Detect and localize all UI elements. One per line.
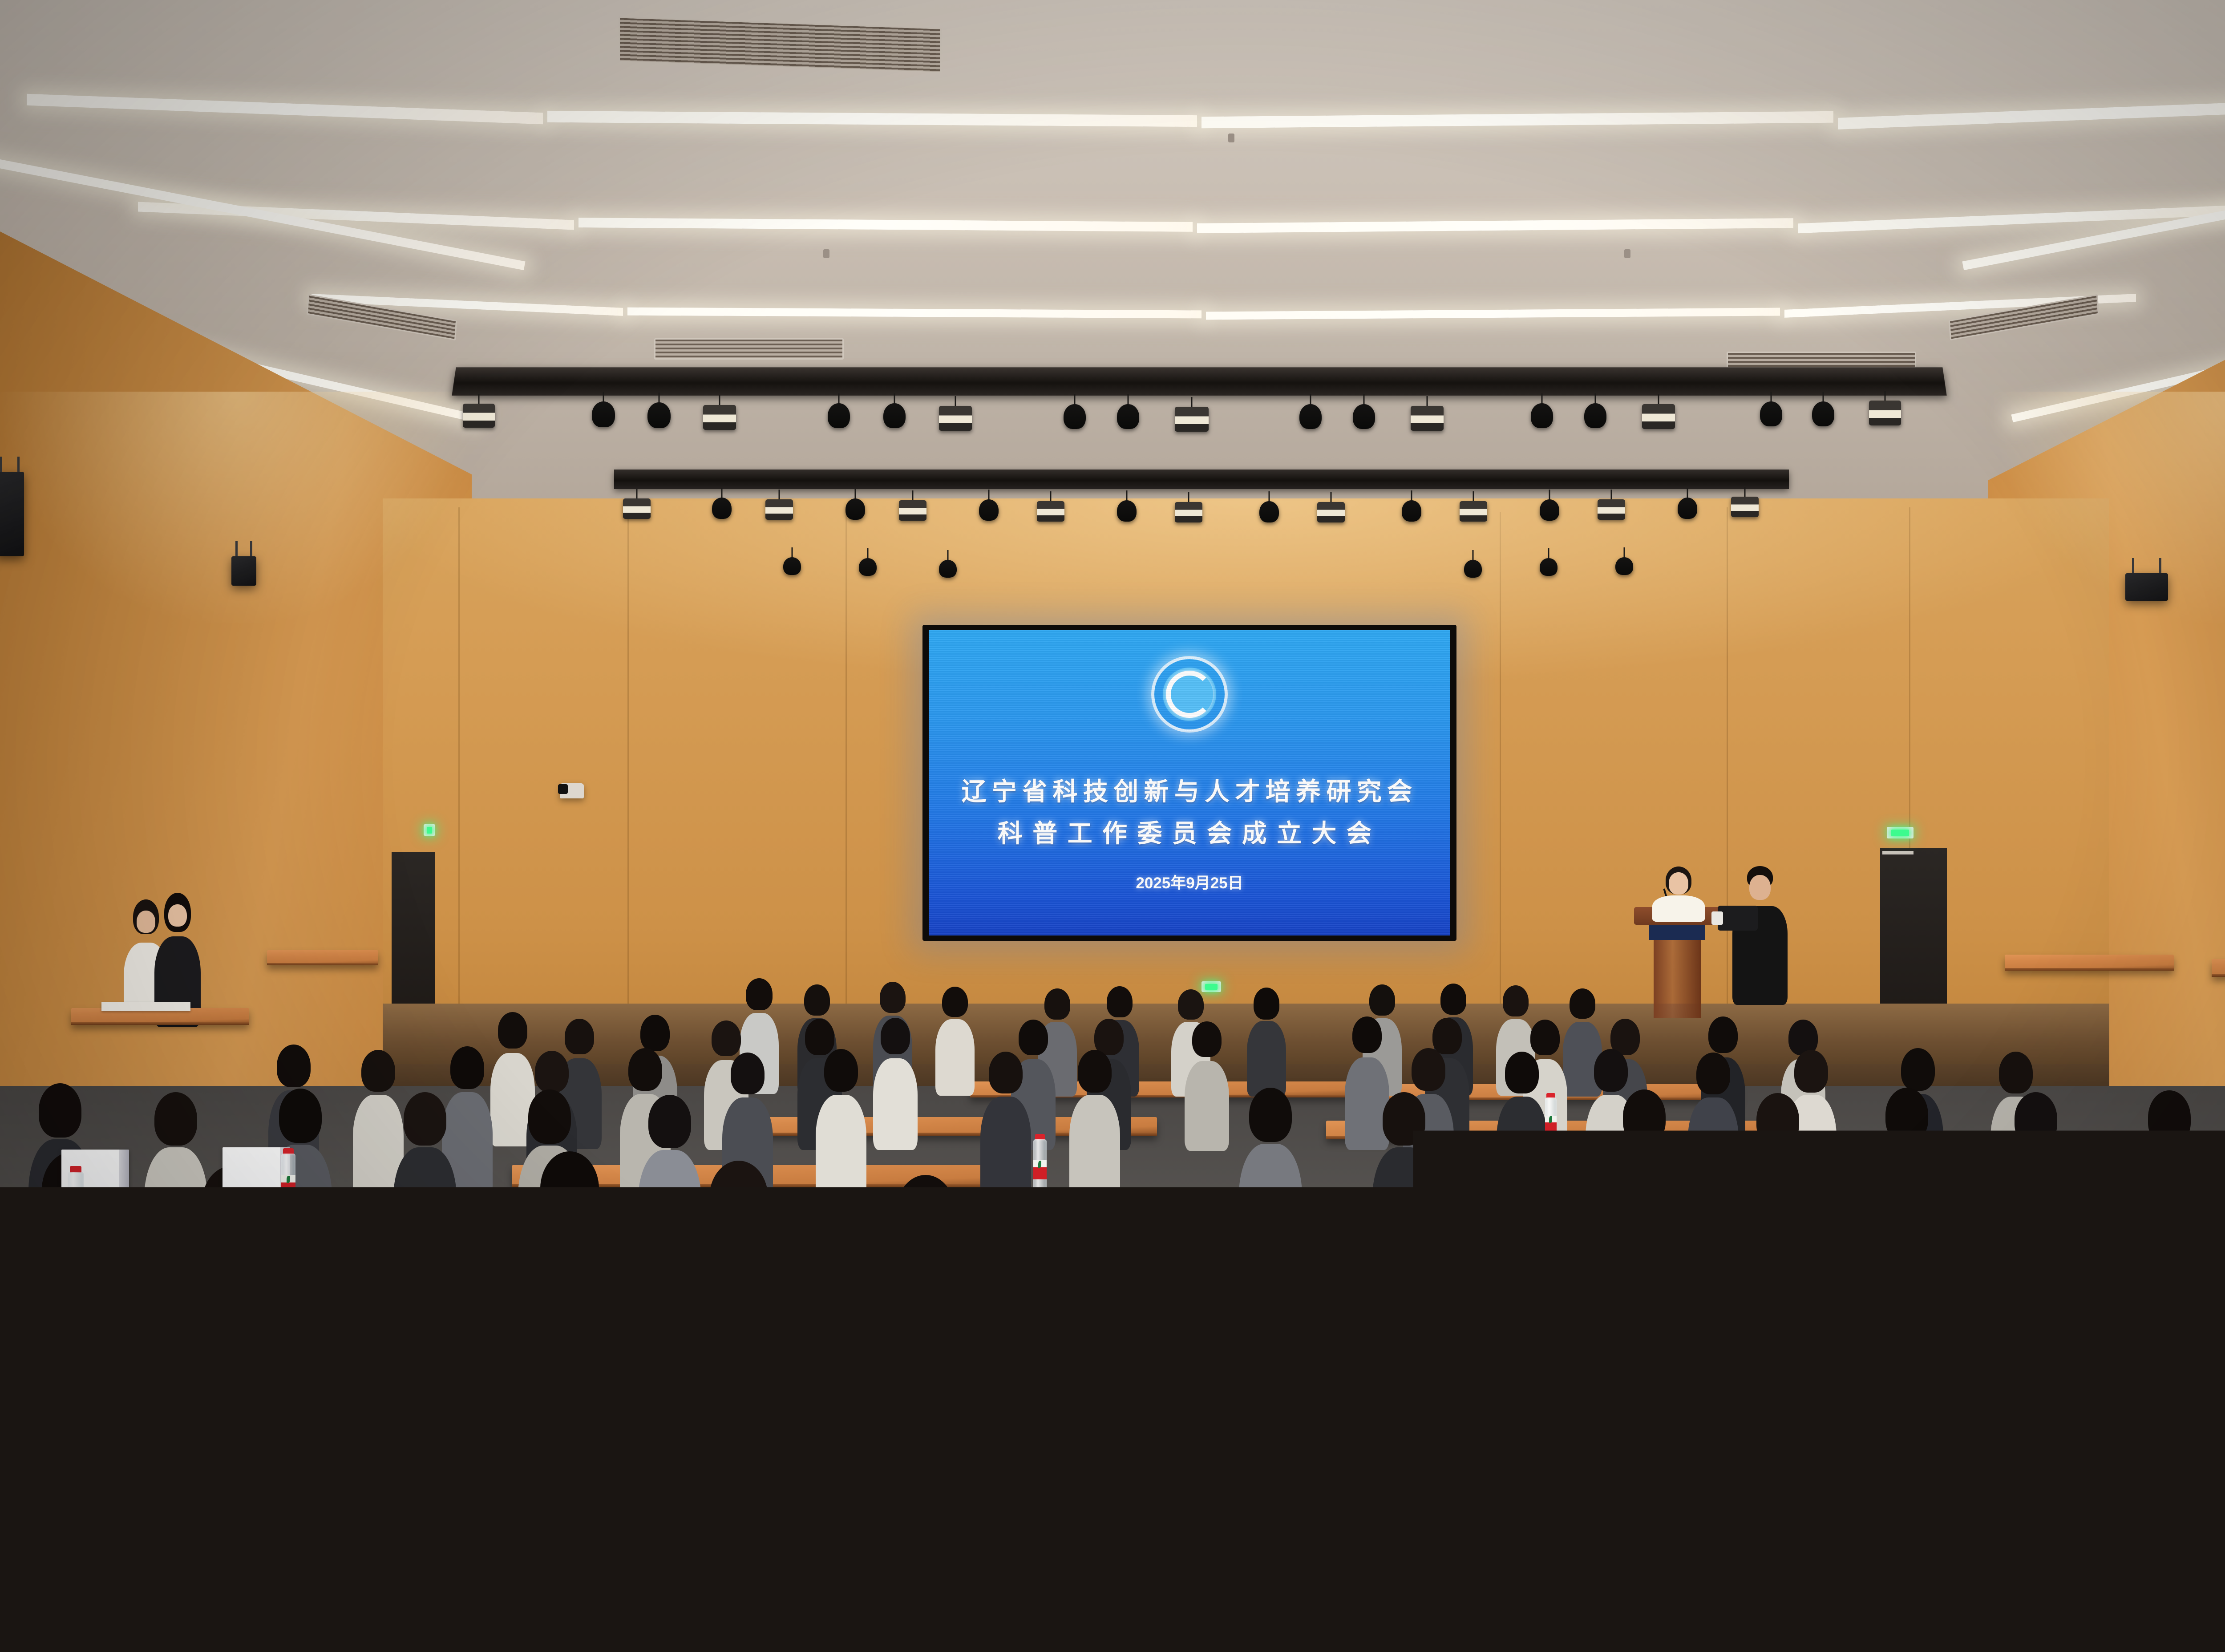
stage-spotlight: [1678, 488, 1697, 517]
camera-lens-hood: [1711, 911, 1723, 925]
placard-org-line: [237, 1194, 284, 1236]
placard-logo-icon: [1153, 1320, 1164, 1331]
placard-org-line: [1801, 1450, 1869, 1494]
stage-spotlight: [1259, 491, 1279, 521]
water-bottle: [247, 1388, 274, 1490]
water-bottle: [1255, 1353, 1280, 1454]
speaker-podium: [1634, 907, 1720, 1018]
placard-logo-icon: [1787, 1444, 1799, 1457]
stage-spotlight: [623, 489, 651, 518]
audience-member-foreground: [1642, 1197, 1798, 1504]
stage-spotlight: [1411, 396, 1444, 431]
stage-spotlight: [1460, 491, 1487, 521]
stage-spotlight: [1117, 394, 1139, 429]
audience-member: [872, 1023, 918, 1150]
name-placard: 左晓晶: [2076, 1397, 2174, 1652]
audience-member: [1873, 1095, 1940, 1272]
video-camera: [1718, 906, 1758, 931]
sprinkler-head: [1228, 134, 1234, 142]
wall-speaker: [231, 556, 256, 586]
water-bottle: [541, 1238, 562, 1325]
name-placard: 宋同凯: [1780, 1400, 1877, 1652]
placard-fold: [825, 1426, 838, 1652]
audience-member: [814, 1055, 868, 1199]
document: [1059, 1409, 1126, 1426]
stage-spotlight: [1760, 392, 1782, 426]
water-bottle: [943, 1380, 968, 1485]
led-display-screen: 辽宁省科技创新与人才培养研究会 科普工作委员会成立大会 2025年9月25日: [922, 625, 1456, 941]
stage-spotlight: [1464, 550, 1482, 575]
wall-speaker: [2125, 573, 2168, 601]
stage-spotlight: [1531, 393, 1553, 428]
water-bottle: [1969, 1233, 1989, 1316]
stage-spotlight: [845, 489, 865, 518]
audience-member: [525, 1161, 614, 1392]
placard-logo-icon: [233, 1460, 245, 1472]
side-table: [267, 950, 378, 965]
audience-member-foreground: [1201, 1282, 1397, 1652]
placard-fold: [1931, 1271, 1943, 1540]
stage-spotlight: [979, 490, 999, 519]
stage-spotlight: [1175, 397, 1209, 432]
desk-leg: [734, 1505, 741, 1585]
audience-member: [1068, 1056, 1121, 1199]
audience-member: [636, 1102, 703, 1275]
air-vent: [654, 338, 844, 360]
stage-spotlight: [1584, 393, 1606, 428]
stage-spotlight: [1317, 492, 1345, 522]
stage-spotlight: [1037, 491, 1064, 521]
placard-logo-icon: [227, 1189, 236, 1198]
water-bottle: [67, 1166, 85, 1241]
placard-org-line: [451, 1247, 498, 1289]
stage-spotlight: [1175, 492, 1202, 522]
stage-spotlight: [1540, 490, 1559, 519]
placard-logo-icon: [10, 1247, 20, 1256]
side-table: [2212, 959, 2225, 977]
water-bottle: [1235, 1241, 1256, 1325]
stage-spotlight: [1117, 490, 1137, 520]
stage-spotlight: [463, 394, 495, 428]
water-bottle: [2183, 1346, 2209, 1451]
stage-spotlight: [765, 490, 793, 519]
emergency-exit-sign: [1201, 981, 1221, 992]
wall-ambient-glow: [0, 392, 472, 623]
stage-spotlight: [1402, 490, 1421, 520]
side-table: [2005, 955, 2174, 971]
audience-desk: [1415, 1169, 1940, 1191]
wall-speaker: [0, 472, 24, 556]
name-placard: 张: [436, 1199, 503, 1463]
sprinkler-head: [823, 249, 829, 258]
placard-fold: [493, 1199, 503, 1463]
desk-leg: [414, 1489, 421, 1583]
water-bottle: [280, 1148, 296, 1215]
stage-spotlight: [939, 396, 972, 431]
wall-ambient-glow: [1994, 392, 2225, 623]
stage-spotlight: [883, 393, 906, 428]
stage-spotlight: [1299, 394, 1322, 429]
placard-fold: [302, 1415, 316, 1652]
sprinkler-head: [1624, 249, 1630, 258]
stage-spotlight: [859, 548, 877, 573]
stage-spotlight: [1615, 547, 1633, 572]
audience-member: [1184, 1026, 1230, 1151]
name-placard: 王娇: [751, 1426, 838, 1652]
placard-fold: [515, 1280, 528, 1551]
stage-spotlight: [783, 547, 801, 572]
stage-spotlight: [712, 488, 732, 517]
placard-logo-icon: [1064, 1433, 1077, 1446]
audience-member: [1371, 1099, 1437, 1273]
name-placard: 崔晓莉: [1147, 1277, 1229, 1547]
audience-member: [881, 1184, 970, 1406]
stage-spotlight: [592, 392, 615, 427]
stage-spotlight: [1869, 391, 1901, 425]
stage-spotlight: [703, 395, 736, 430]
stage-spotlight: [1642, 394, 1675, 429]
placard-fold: [119, 1150, 129, 1411]
stage-spotlight: [1812, 392, 1834, 426]
water-bottle: [1722, 1134, 1737, 1199]
placard-fold: [2159, 1397, 2174, 1652]
documents-on-table: [101, 1002, 190, 1011]
placard-fold: [1217, 1277, 1229, 1547]
placard-org-line: [1165, 1326, 1222, 1369]
audience-member: [1949, 1175, 2043, 1408]
stage-spotlight: [939, 550, 957, 575]
placard-logo-icon: [441, 1242, 450, 1251]
audience-member: [1246, 992, 1287, 1097]
door-header-trim: [1882, 851, 1913, 854]
emergency-exit-sign: [1887, 827, 1913, 838]
security-camera: [560, 783, 584, 798]
audience-member: [694, 1170, 783, 1397]
emergency-exit-sign: [424, 824, 435, 836]
water-bottle: [1544, 1093, 1557, 1150]
smartphone-on-desk: [2055, 1312, 2099, 1330]
water-bottle: [1032, 1134, 1048, 1199]
presenter-at-podium: [1652, 869, 1705, 922]
stage-spotlight: [647, 393, 671, 428]
stage-spotlight: [1064, 394, 1086, 429]
water-bottle: [1892, 1348, 1918, 1453]
placard-logo-icon: [757, 1471, 769, 1482]
stage-spotlight: [1353, 394, 1375, 429]
placard-logo-icon: [2083, 1442, 2096, 1455]
stage-spotlight: [1731, 487, 1759, 516]
placard-logo-icon: [1872, 1314, 1882, 1324]
stage-spotlight: [828, 393, 850, 428]
stage-spotlight: [1598, 490, 1625, 519]
stage-spotlight: [899, 490, 926, 520]
conference-hall-photo: 辽宁省科技创新与人才培养研究会 科普工作委员会成立大会 2025年9月25日: [0, 0, 2225, 1652]
stage-lighting-truss: [452, 367, 1946, 396]
stage-spotlight: [1540, 548, 1557, 573]
audience-member: [979, 1057, 1032, 1200]
name-placard: 周海君: [1057, 1389, 1156, 1652]
placard-org-line: [770, 1477, 831, 1521]
stage-lighting-truss-secondary: [614, 470, 1789, 489]
backpack: [1455, 1325, 1549, 1414]
audience-member: [2136, 1097, 2203, 1273]
placard-org-line: [1079, 1439, 1148, 1484]
audience-member: [934, 991, 975, 1096]
videographer: [1727, 871, 1793, 1005]
